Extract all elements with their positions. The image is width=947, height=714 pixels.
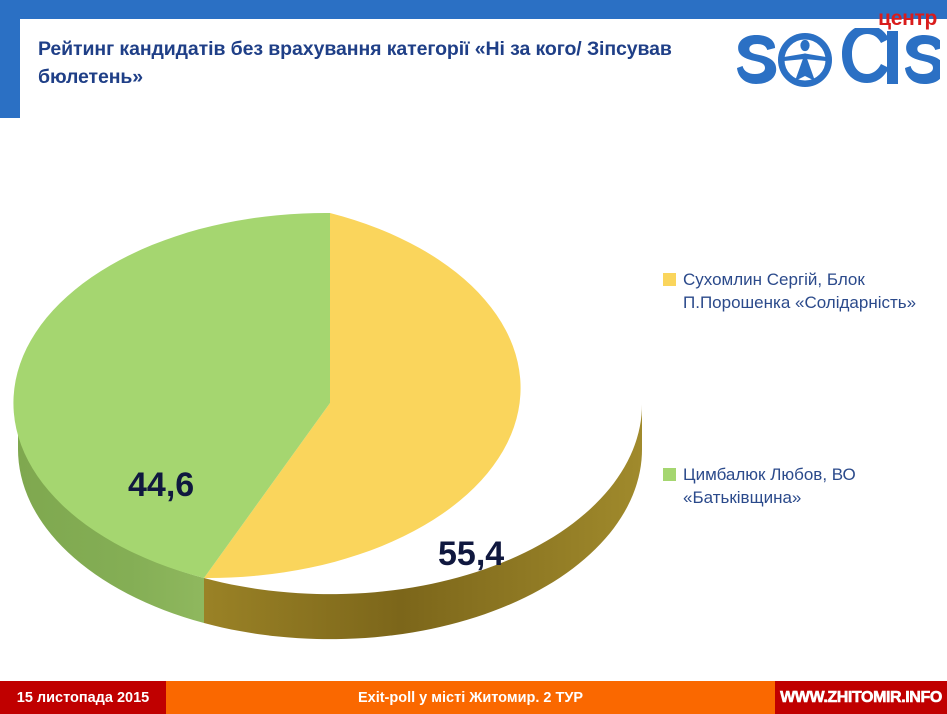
pie-value-label-green: 44,6 (128, 466, 194, 505)
legend-swatch-green (663, 468, 676, 481)
pie-chart: 44,6 55,4 (0, 175, 660, 645)
socis-wordmark-icon (735, 28, 940, 90)
legend-label-tsymbalyuk: Цимбалюк Любов, ВО «Батьківщина» (683, 463, 938, 510)
footer-site-badge[interactable]: WWW.ZHITOMIR.INFO (775, 681, 947, 714)
pie-chart-svg (0, 175, 660, 645)
footer-bar: 15 листопада 2015 Exit-poll у місті Жито… (0, 681, 947, 714)
header-left-accent-bar (0, 19, 20, 118)
legend-swatch-yellow (663, 273, 676, 286)
socis-logo: центр (735, 8, 940, 94)
socis-centr-label: центр (878, 8, 937, 29)
page-title: Рейтинг кандидатів без врахування катего… (38, 36, 678, 91)
pie-value-label-yellow: 55,4 (438, 535, 504, 574)
footer-subtitle: Exit-poll у місті Житомир. 2 ТУР (166, 681, 775, 714)
footer-date: 15 листопада 2015 (0, 681, 166, 714)
legend-item-sukhomlyn[interactable]: Сухомлин Сергій, Блок П.Порошенка «Солід… (663, 268, 938, 315)
footer-site-url: WWW.ZHITOMIR.INFO (780, 689, 942, 707)
legend-label-sukhomlyn: Сухомлин Сергій, Блок П.Порошенка «Солід… (683, 268, 938, 315)
legend-item-tsymbalyuk[interactable]: Цимбалюк Любов, ВО «Батьківщина» (663, 463, 938, 510)
